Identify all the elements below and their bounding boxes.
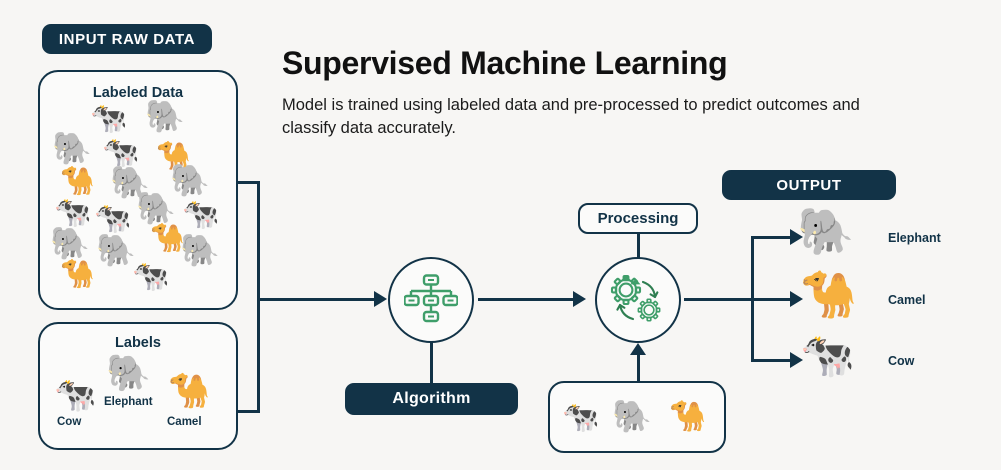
algorithm-label-connector bbox=[430, 341, 433, 385]
output-badge: OUTPUT bbox=[722, 170, 896, 200]
algorithm-to-processing-arrowhead bbox=[573, 291, 586, 307]
output-label-camel: Camel bbox=[888, 293, 926, 307]
output-branch-line-camel bbox=[751, 298, 792, 301]
cow-icon: 🐄 bbox=[54, 378, 96, 412]
cow-icon: 🐄 bbox=[94, 204, 131, 234]
input-bracket-vertical bbox=[257, 181, 260, 413]
elephant-icon: 🐘 bbox=[106, 355, 151, 391]
page-title: Supervised Machine Learning bbox=[282, 47, 882, 81]
cow-icon: 🐄 bbox=[54, 198, 91, 228]
feedback-sample-panel: 🐄 🐘 🐪 bbox=[548, 381, 726, 453]
hierarchy-tree-icon bbox=[404, 274, 458, 326]
output-branch-line-elephant bbox=[751, 236, 792, 239]
labels-item-label-cow: Cow bbox=[57, 416, 81, 428]
output-label-elephant: Elephant bbox=[888, 231, 941, 245]
input-bracket-top-stub bbox=[238, 181, 260, 184]
camel-icon: 🐪 bbox=[168, 374, 210, 408]
elephant-icon: 🐘 bbox=[180, 234, 220, 266]
output-label-cow: Cow bbox=[888, 354, 914, 368]
cow-icon: 🐄 bbox=[562, 403, 599, 433]
output-branch-line-cow bbox=[751, 359, 792, 362]
feedback-connector bbox=[637, 354, 640, 382]
labeled-data-panel: Labeled Data 🐄🐘🐘🐄🐪🐪🐘🐘🐄🐘🐄🐄🐘🐘🐪🐘🐪🐄 bbox=[38, 70, 238, 310]
camel-icon: 🐪 bbox=[669, 402, 706, 432]
processing-label: Processing bbox=[578, 203, 698, 234]
elephant-icon: 🐘 bbox=[50, 227, 90, 259]
page-subtitle: Model is trained using labeled data and … bbox=[282, 94, 862, 141]
input-bracket-bottom-stub bbox=[238, 410, 260, 413]
labels-panel: Labels 🐄 Cow 🐘 Elephant 🐪 Camel bbox=[38, 322, 238, 450]
camel-icon: 🐪 bbox=[60, 260, 95, 288]
elephant-icon: 🐘 bbox=[797, 208, 854, 254]
elephant-icon: 🐘 bbox=[52, 132, 92, 164]
cow-icon: 🐄 bbox=[182, 200, 219, 230]
infographic-canvas: INPUT RAW DATA Supervised Machine Learni… bbox=[0, 0, 1001, 470]
input-to-algorithm-arrowhead bbox=[374, 291, 387, 307]
elephant-icon: 🐘 bbox=[612, 400, 652, 432]
algorithm-to-processing-line bbox=[478, 298, 574, 301]
labels-item-label-camel: Camel bbox=[167, 416, 202, 428]
cow-icon: 🐄 bbox=[132, 262, 169, 292]
input-to-algorithm-line bbox=[257, 298, 375, 301]
camel-icon: 🐪 bbox=[60, 167, 95, 195]
input-raw-data-badge: INPUT RAW DATA bbox=[42, 24, 212, 54]
elephant-icon: 🐘 bbox=[96, 234, 136, 266]
feedback-arrowhead bbox=[630, 343, 646, 355]
elephant-icon: 🐘 bbox=[170, 164, 210, 196]
cow-icon: 🐄 bbox=[90, 104, 127, 134]
algorithm-node[interactable] bbox=[388, 257, 474, 343]
elephant-icon: 🐘 bbox=[145, 100, 185, 132]
labels-title: Labels bbox=[40, 335, 236, 351]
camel-icon: 🐪 bbox=[800, 271, 857, 317]
elephant-icon: 🐘 bbox=[136, 192, 176, 224]
labels-item-label-elephant: Elephant bbox=[104, 396, 153, 408]
gears-icon bbox=[609, 273, 667, 327]
processing-label-connector bbox=[637, 234, 640, 259]
processing-node[interactable] bbox=[595, 257, 681, 343]
cow-icon: 🐄 bbox=[800, 334, 855, 378]
algorithm-label: Algorithm bbox=[345, 383, 518, 415]
labeled-data-title: Labeled Data bbox=[40, 85, 236, 101]
